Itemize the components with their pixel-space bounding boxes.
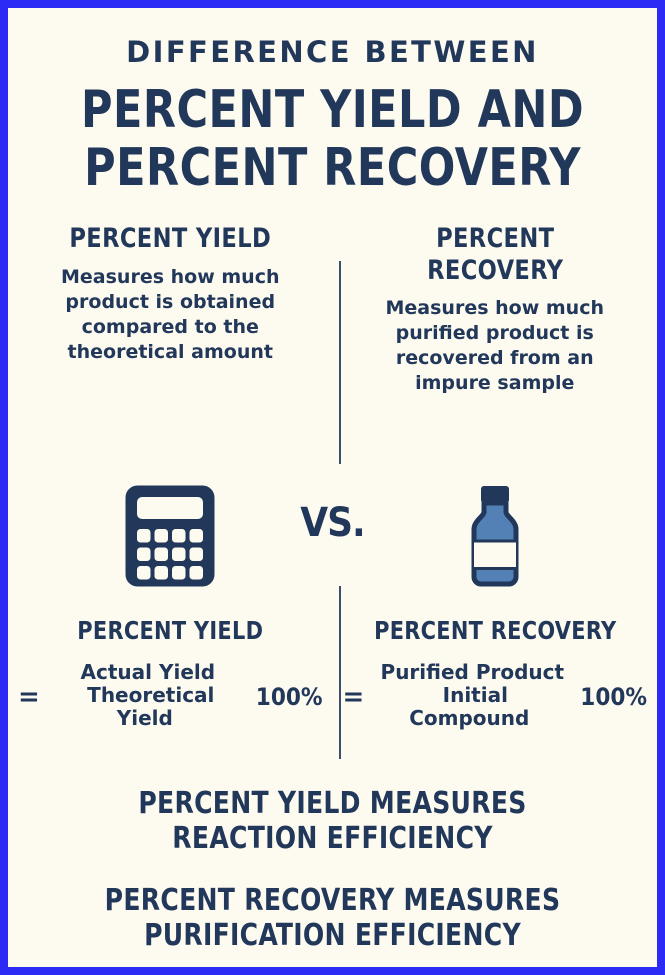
equation-percent-yield: = Actual Yield Theoretical Yield 100% <box>18 661 323 730</box>
page-title-line-1: PERCENT YIELD AND <box>81 80 584 140</box>
equals-sign-right: = <box>343 684 365 710</box>
page-title-line-2: PERCENT RECOVERY <box>34 139 631 197</box>
column-description-percent-yield: Measures how much product is obtained co… <box>34 265 307 365</box>
column-title-percent-recovery-line-1: PERCENT <box>436 223 554 254</box>
footer-block-yield: PERCENT YIELD MEASURES REACTION EFFICIEN… <box>8 786 657 857</box>
fraction-percent-recovery: Purified Product Initial Compound <box>372 661 572 730</box>
poster-canvas: DIFFERENCE BETWEEN PERCENT YIELD AND PER… <box>8 8 657 967</box>
eyebrow-text: DIFFERENCE BETWEEN <box>8 38 657 67</box>
equals-sign-left: = <box>18 684 40 710</box>
formula-percent-yield: PERCENT YIELD = Actual Yield Theoretical… <box>8 616 333 730</box>
fraction-percent-yield: Actual Yield Theoretical Yield <box>48 661 248 730</box>
footer-recovery-line-1: PERCENT RECOVERY MEASURES <box>31 883 635 918</box>
formula-title-percent-yield: PERCENT YIELD <box>29 616 312 645</box>
equation-percent-recovery: = Purified Product Initial Compound 100% <box>343 661 648 730</box>
footer-recovery-line-2: PURIFICATION EFFICIENCY <box>31 918 635 953</box>
infographic-poster: DIFFERENCE BETWEEN PERCENT YIELD AND PER… <box>0 0 665 975</box>
column-title-percent-recovery-line-2: RECOVERY <box>427 255 563 286</box>
comparison-section: PERCENT YIELD Measures how much product … <box>8 223 657 396</box>
column-description-percent-recovery: Measures how much purified product is re… <box>359 296 632 396</box>
vertical-divider-upper <box>339 261 341 464</box>
column-title-percent-recovery: PERCENT RECOVERY <box>368 223 621 286</box>
footer-summary: PERCENT YIELD MEASURES REACTION EFFICIEN… <box>8 786 657 954</box>
page-title: PERCENT YIELD AND PERCENT RECOVERY <box>34 81 631 197</box>
multiplier-left: 100% <box>256 685 323 709</box>
column-title-percent-yield: PERCENT YIELD <box>44 223 297 254</box>
column-percent-recovery: PERCENT RECOVERY Measures how much purif… <box>333 223 658 396</box>
formula-section: PERCENT YIELD = Actual Yield Theoretical… <box>8 616 657 730</box>
fraction-denominator-left: Theoretical Yield <box>81 681 214 730</box>
formula-title-percent-recovery: PERCENT RECOVERY <box>353 616 636 645</box>
footer-yield-line-1: PERCENT YIELD MEASURES <box>31 786 635 821</box>
footer-block-recovery: PERCENT RECOVERY MEASURES PURIFICATION E… <box>8 883 657 954</box>
column-percent-yield: PERCENT YIELD Measures how much product … <box>8 223 333 365</box>
fraction-denominator-right: Initial Compound <box>409 681 535 730</box>
versus-label: VS. <box>8 500 657 546</box>
multiplier-right: 100% <box>580 685 647 709</box>
formula-percent-recovery: PERCENT RECOVERY = Purified Product Init… <box>333 616 658 730</box>
title-block: DIFFERENCE BETWEEN PERCENT YIELD AND PER… <box>8 8 657 197</box>
footer-yield-line-2: REACTION EFFICIENCY <box>31 821 635 856</box>
